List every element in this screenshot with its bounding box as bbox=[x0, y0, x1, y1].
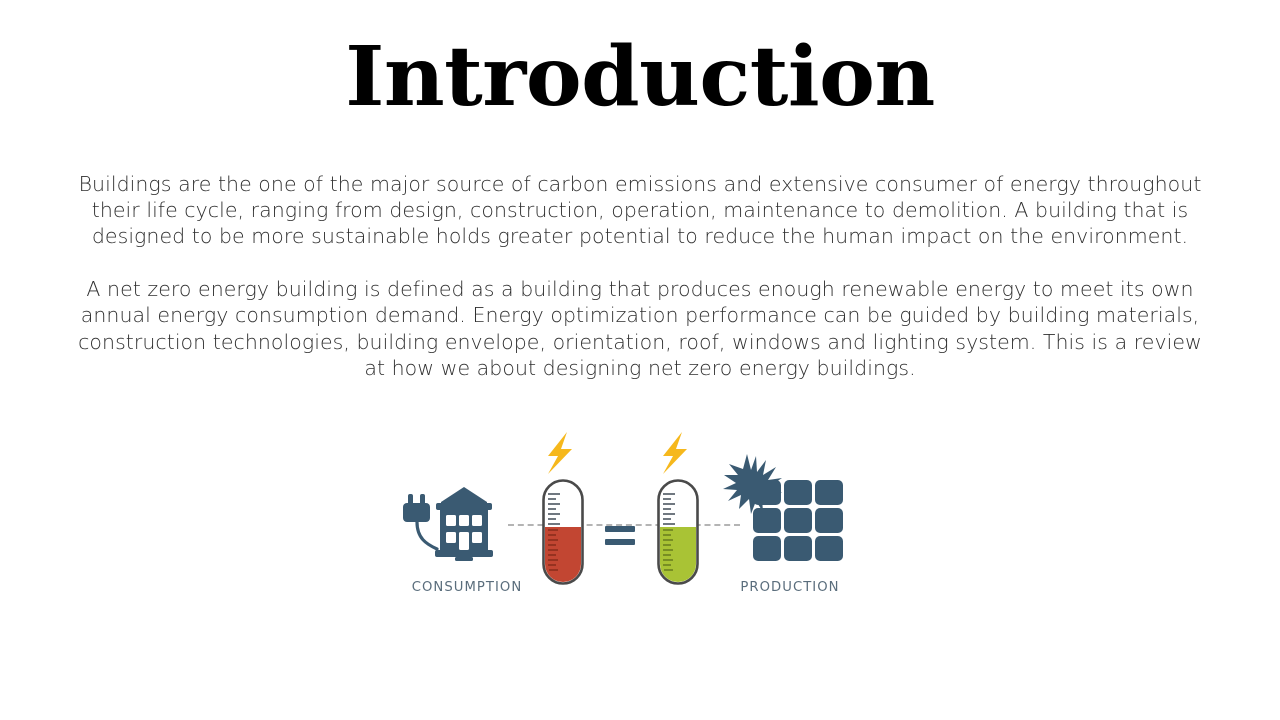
consumption-group: CONSUMPTION bbox=[392, 486, 542, 576]
slide-canvas: Introduction Buildings are the one of th… bbox=[0, 0, 1280, 720]
production-group: PRODUCTION bbox=[720, 452, 860, 577]
paragraph-1: Buildings are the one of the major sourc… bbox=[78, 171, 1202, 250]
paragraph-2: A net zero energy building is defined as… bbox=[78, 276, 1202, 381]
solar-panel-grid bbox=[753, 480, 843, 561]
body-text-block: Buildings are the one of the major sourc… bbox=[78, 150, 1202, 401]
production-caption: PRODUCTION bbox=[720, 580, 860, 595]
consumption-gauge bbox=[528, 430, 598, 595]
consumption-caption: CONSUMPTION bbox=[392, 580, 542, 595]
sun-with-solar-panel-icon bbox=[720, 452, 860, 577]
net-zero-energy-balance-diagram: CONSUMPTION bbox=[390, 428, 860, 613]
page-title: Introduction bbox=[0, 36, 1280, 118]
building-with-plug-icon bbox=[392, 486, 542, 576]
lightning-bolt-icon bbox=[663, 432, 687, 474]
lightning-bolt-icon bbox=[548, 432, 572, 474]
equals-bar-top bbox=[605, 526, 635, 532]
equals-bar-bottom bbox=[605, 539, 635, 545]
equals-sign bbox=[605, 526, 641, 554]
production-gauge bbox=[643, 430, 713, 595]
